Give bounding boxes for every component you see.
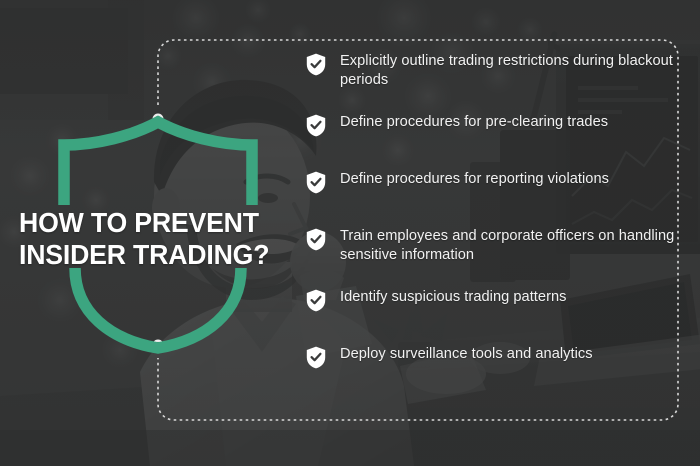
shield-check-icon [306,289,326,312]
shield-check-icon [306,53,326,76]
page-title: HOW TO PREVENT INSIDER TRADING? [19,207,300,271]
shield-check-icon [306,228,326,251]
list-item-label: Train employees and corporate officers o… [340,227,678,265]
shield-check-icon [306,171,326,194]
list-item[interactable]: Define procedures for pre-clearing trade… [306,113,678,137]
infographic-canvas: HOW TO PREVENT INSIDER TRADING? Explicit… [0,0,700,466]
shield-top-arc [64,122,252,205]
list-item-label: Define procedures for reporting violatio… [340,170,609,189]
list-item[interactable]: Identify suspicious trading patterns [306,288,678,312]
checklist: Explicitly outline trading restrictions … [306,52,678,369]
list-item[interactable]: Explicitly outline trading restrictions … [306,52,678,90]
list-item-label: Explicitly outline trading restrictions … [340,52,678,90]
shield-bottom-arc [75,268,241,348]
list-item-label: Identify suspicious trading patterns [340,288,567,307]
list-item[interactable]: Define procedures for reporting violatio… [306,170,678,194]
list-item-label: Define procedures for pre-clearing trade… [340,113,608,132]
shield-check-icon [306,114,326,137]
list-item[interactable]: Deploy surveillance tools and analytics [306,345,678,369]
shield-check-icon [306,346,326,369]
list-item-label: Deploy surveillance tools and analytics [340,345,593,364]
list-item[interactable]: Train employees and corporate officers o… [306,227,678,265]
